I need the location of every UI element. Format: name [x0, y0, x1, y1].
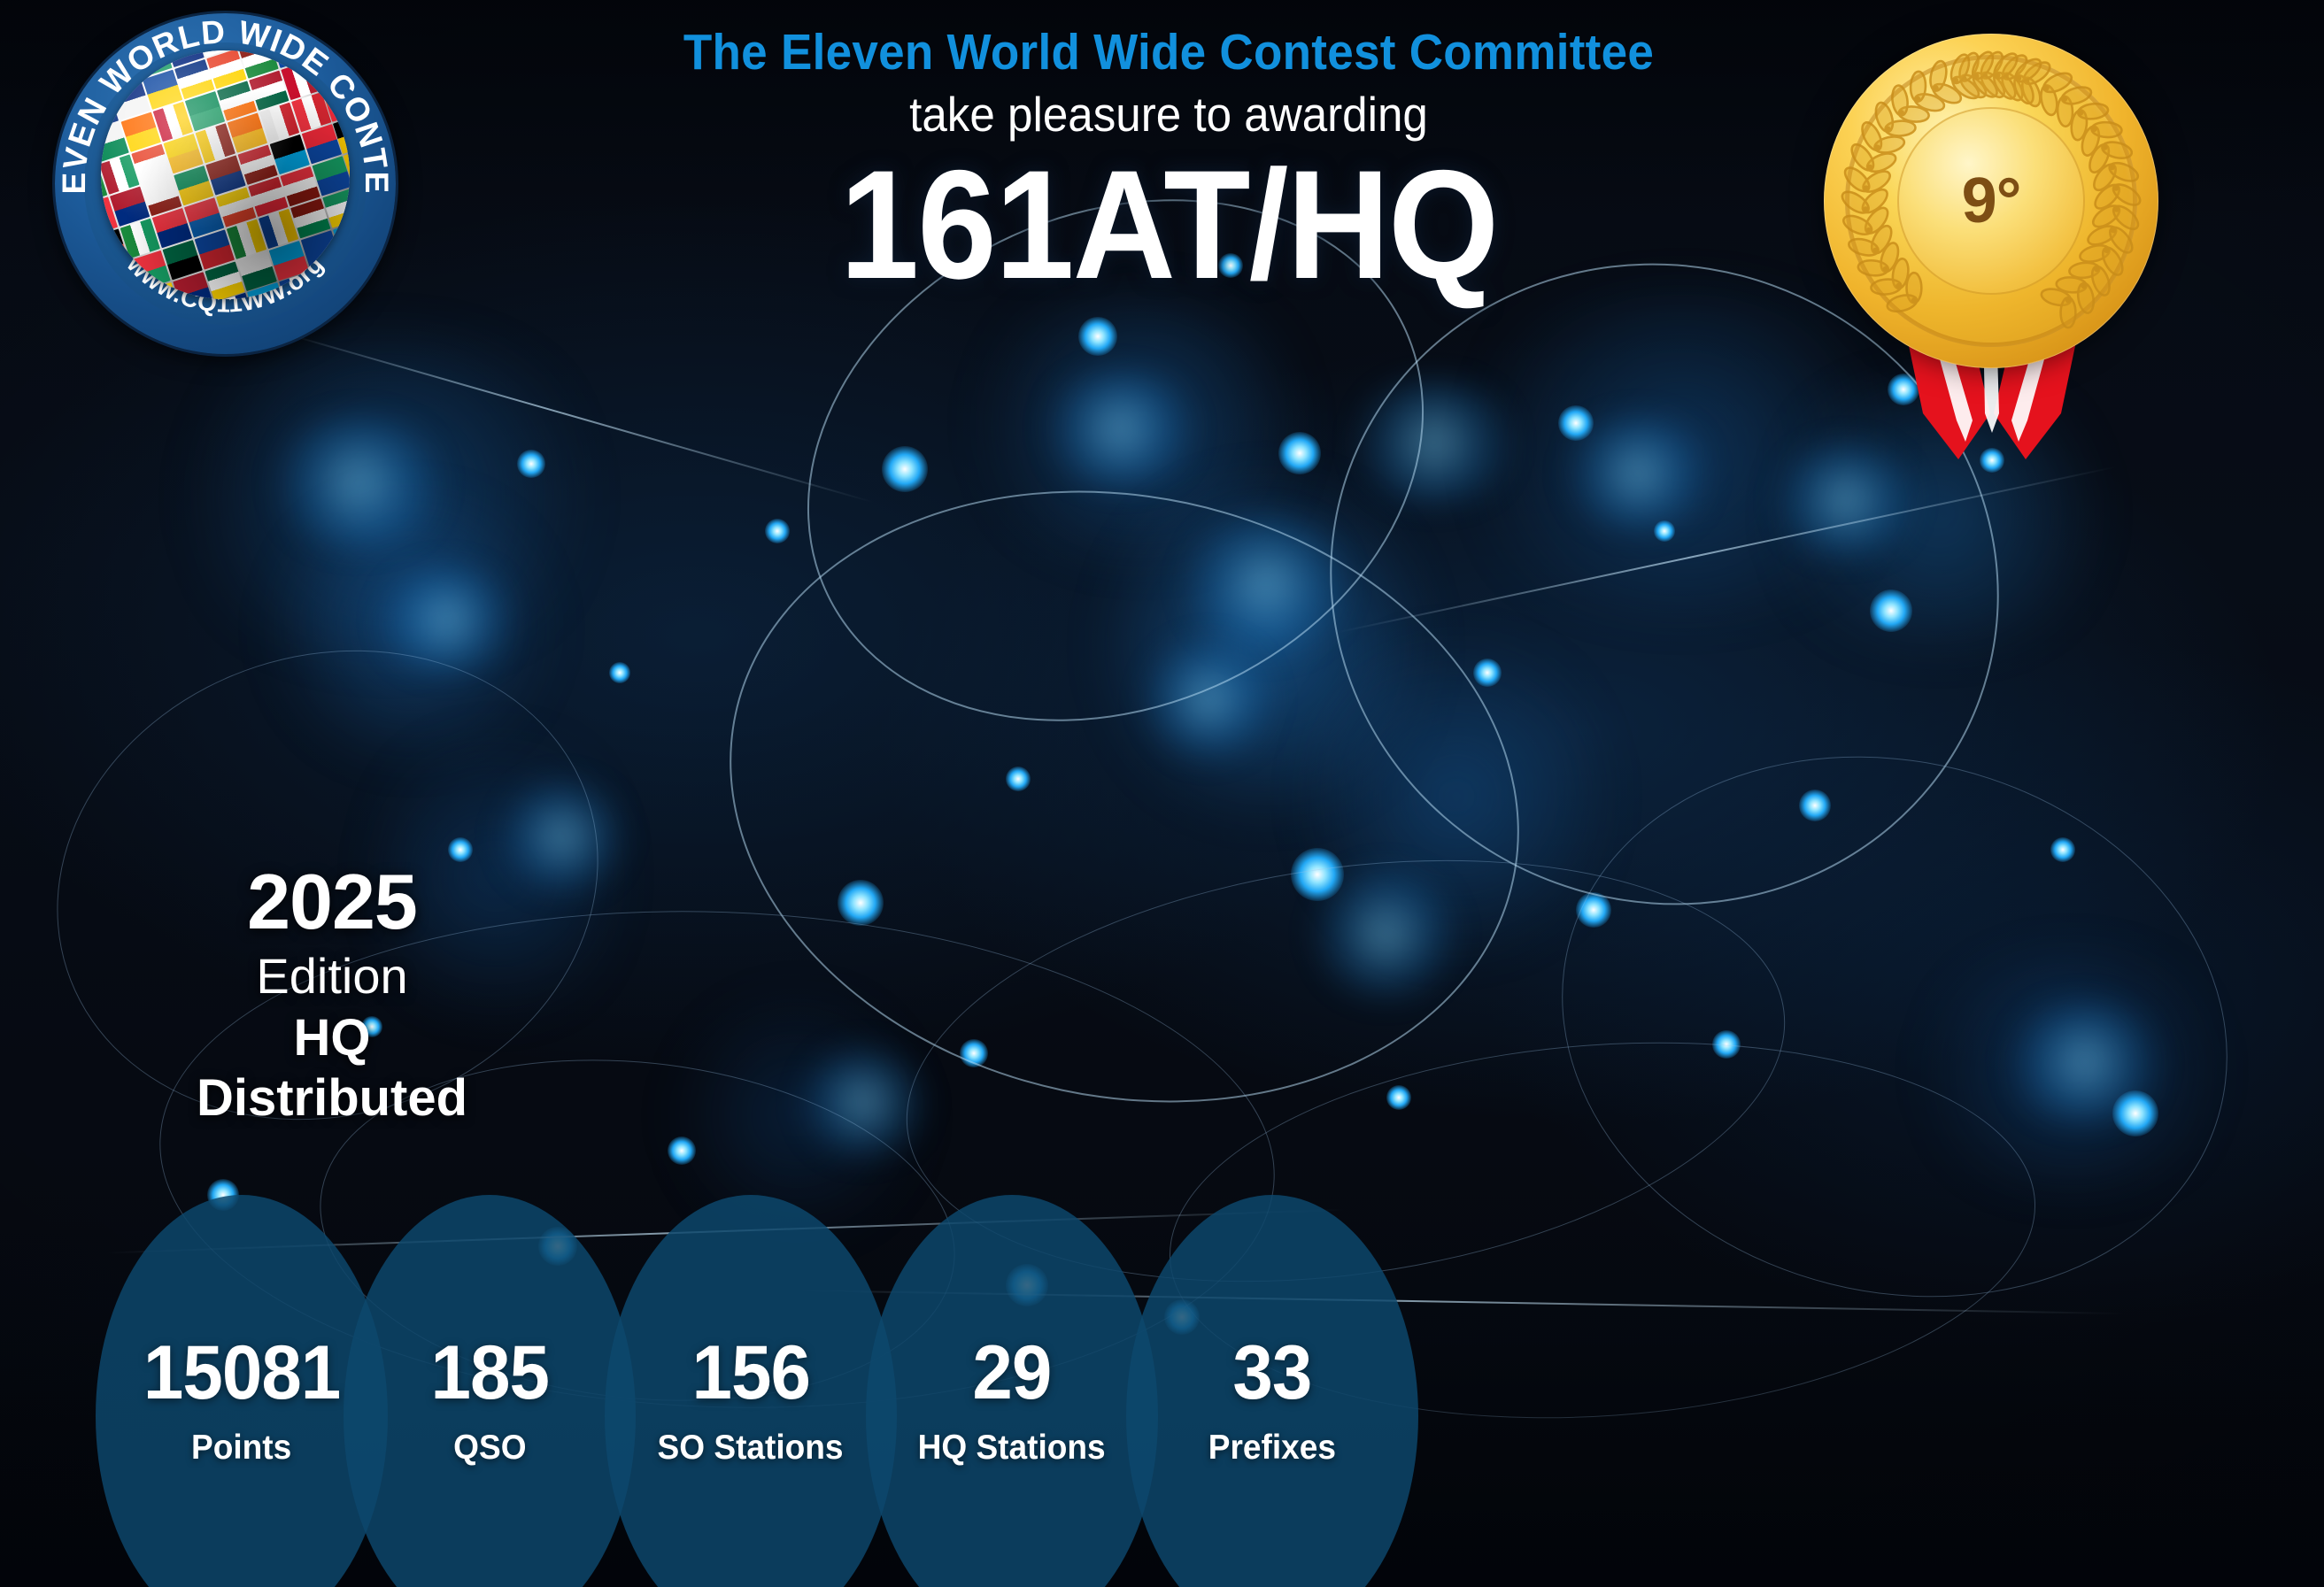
edition-category: HQ Distributed	[155, 1008, 509, 1128]
stat-value: 185	[430, 1335, 548, 1411]
award-certificate: ELEVEN WORLD WIDE CONTEST www.CQ11WW.org…	[0, 0, 2324, 1587]
edition-year: 2025	[155, 863, 509, 941]
stat-value: 156	[691, 1335, 809, 1411]
statistics-row: 15081Points185QSO156SO Stations29HQ Stat…	[0, 1195, 2324, 1587]
cq11ww-logo[interactable]: ELEVEN WORLD WIDE CONTEST www.CQ11WW.org	[55, 13, 396, 354]
header-block: The Eleven World Wide Contest Committee …	[549, 25, 1788, 303]
gold-medal-icon: 9°	[1819, 34, 2165, 582]
medal-face: 9°	[1897, 107, 2085, 295]
stat-label: QSO	[453, 1430, 526, 1465]
stat-label: Points	[191, 1430, 291, 1465]
edition-block: 2025 Edition HQ Distributed	[155, 863, 509, 1128]
awarding-subtitle: take pleasure to awarding	[592, 87, 1745, 143]
recipient-callsign: 161AT/HQ	[598, 148, 1739, 303]
stat-value: 33	[1232, 1335, 1311, 1411]
stat-value: 15081	[143, 1335, 340, 1411]
committee-title: The Eleven World Wide Contest Committee	[592, 25, 1745, 81]
stat-circle: 185QSO	[344, 1195, 636, 1587]
stat-label: HQ Stations	[918, 1430, 1106, 1465]
stat-circle: 29HQ Stations	[866, 1195, 1158, 1587]
medal-disc: 9°	[1824, 34, 2158, 368]
stat-label: Prefixes	[1208, 1430, 1336, 1465]
stat-value: 29	[972, 1335, 1051, 1411]
stat-circle: 33Prefixes	[1126, 1195, 1418, 1587]
flag-globe-icon	[101, 50, 350, 299]
stat-circle: 156SO Stations	[605, 1195, 897, 1587]
edition-label: Edition	[155, 946, 509, 1006]
medal-rank-label: 9°	[1962, 169, 2021, 233]
stat-label: SO Stations	[658, 1430, 844, 1465]
